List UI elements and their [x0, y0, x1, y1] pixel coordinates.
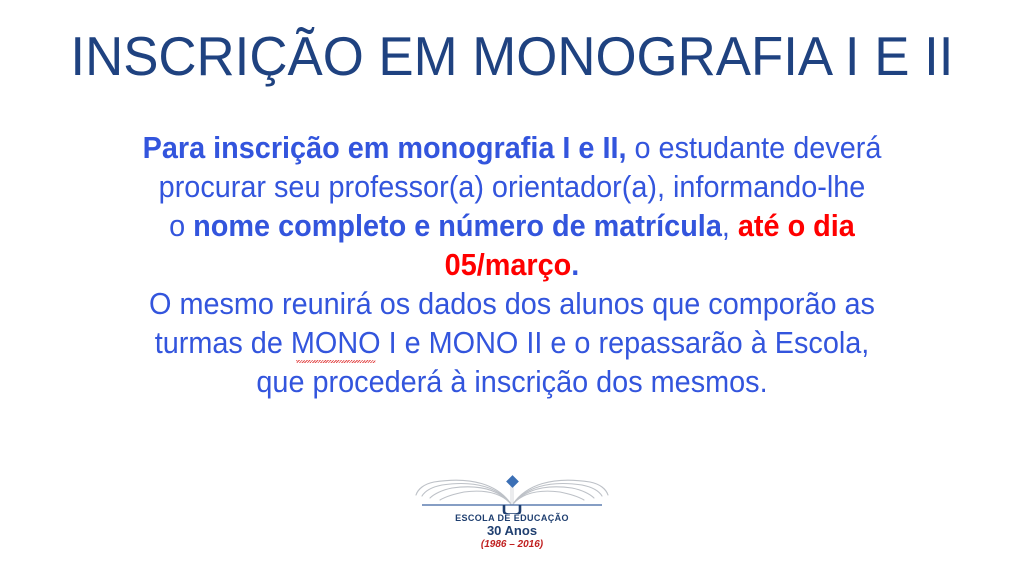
diamond-icon: [506, 475, 519, 488]
body-segment-regular: I e MONO II e o repassarão à Escola,: [381, 325, 870, 360]
logo-text-block: ESCOLA DE EDUCAÇÃO 30 Anos (1986 – 2016): [412, 514, 612, 550]
body-line-1: Para inscrição em monografia I e II, o e…: [94, 128, 931, 167]
body-line-3: o nome completo e número de matrícula, a…: [94, 206, 931, 245]
body-segment-regular: que procederá à inscrição dos mesmos.: [256, 364, 767, 399]
body-segment-bold: Para inscrição em monografia I e II,: [143, 130, 627, 165]
title-block: INSCRIÇÃO EM MONOGRAFIA I E II: [0, 26, 1024, 86]
body-segment-regular: procurar seu professor(a) orientador(a),…: [159, 169, 866, 204]
body-segment-misspelled-word: MONO: [291, 325, 381, 360]
body-line-2: procurar seu professor(a) orientador(a),…: [94, 167, 931, 206]
body-segment-regular: o: [169, 208, 193, 243]
body-segment-bold: nome completo e número de matrícula: [193, 208, 722, 243]
body-line-7: que procederá à inscrição dos mesmos.: [94, 362, 931, 401]
body-segment-period: .: [571, 247, 579, 282]
body-line-4: 05/março.: [94, 245, 931, 284]
body-line-6: turmas de MONO I e MONO II e o repassarã…: [94, 323, 931, 362]
open-book-icon: [412, 462, 612, 514]
logo-school-name: ESCOLA DE EDUCAÇÃO: [412, 514, 612, 523]
body-segment-regular: O mesmo reunirá os dados dos alunos que …: [149, 286, 875, 321]
body-segment-regular: o estudante deverá: [627, 130, 882, 165]
logo-year-range: (1986 – 2016): [412, 540, 612, 550]
body-text-block: Para inscrição em monografia I e II, o e…: [62, 128, 962, 401]
escola-de-educacao-logo: ESCOLA DE EDUCAÇÃO 30 Anos (1986 – 2016): [412, 462, 612, 550]
body-segment-deadline: até o dia: [738, 208, 855, 243]
body-segment-deadline-date: 05/março: [445, 247, 572, 282]
logo-block: ESCOLA DE EDUCAÇÃO 30 Anos (1986 – 2016): [0, 462, 1024, 552]
body-line-5: O mesmo reunirá os dados dos alunos que …: [94, 284, 931, 323]
slide-canvas: INSCRIÇÃO EM MONOGRAFIA I E II Para insc…: [0, 0, 1024, 563]
body-segment-comma: ,: [722, 208, 738, 243]
page-title: INSCRIÇÃO EM MONOGRAFIA I E II: [70, 26, 953, 86]
body-segment-regular: turmas de: [155, 325, 291, 360]
logo-anniversary: 30 Anos: [412, 524, 612, 537]
